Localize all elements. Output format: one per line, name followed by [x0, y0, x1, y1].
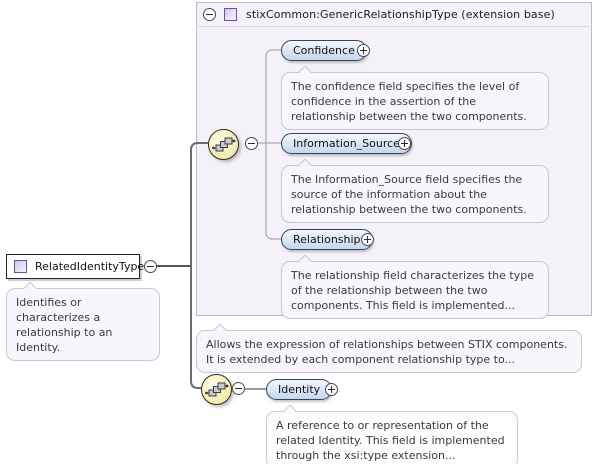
documentation-text: The Information_Source field specifies t…	[291, 172, 539, 217]
element-node-identity[interactable]: Identity	[266, 379, 332, 400]
expand-toggle-relationship[interactable]	[361, 233, 374, 246]
sequence-compositor-icon-top[interactable]	[208, 129, 239, 160]
extension-base-title: stixCommon:GenericRelationshipType (exte…	[246, 8, 555, 21]
extension-base-header: stixCommon:GenericRelationshipType (exte…	[196, 2, 592, 27]
callout-pointer	[298, 66, 314, 73]
element-label: Information_Source	[293, 137, 400, 150]
element-label: Confidence	[293, 44, 355, 57]
documentation-text: The relationship field characterizes the…	[291, 268, 539, 313]
documentation-callout-information-source: The Information_Source field specifies t…	[281, 165, 549, 223]
documentation-text: A reference to or representation of the …	[276, 418, 508, 463]
callout-pointer	[213, 324, 229, 331]
documentation-text: Identifies or characterizes a relationsh…	[16, 295, 150, 355]
element-label: Identity	[278, 383, 320, 396]
expand-toggle-confidence[interactable]	[357, 44, 370, 57]
collapse-toggle-sequence-bottom[interactable]	[232, 382, 245, 395]
callout-pointer	[298, 159, 314, 166]
element-node-relationship[interactable]: Relationship	[281, 229, 373, 250]
documentation-callout-relationship: The relationship field characterizes the…	[281, 261, 549, 319]
documentation-callout-confidence: The confidence field specifies the level…	[281, 72, 549, 130]
documentation-callout-identity: A reference to or representation of the …	[266, 411, 518, 464]
complex-type-icon	[224, 8, 237, 21]
callout-pointer	[23, 282, 39, 289]
sequence-compositor-icon-bottom[interactable]	[201, 374, 232, 405]
extension-base-collapse-toggle[interactable]	[203, 8, 216, 21]
element-label: Relationship	[293, 233, 361, 246]
element-node-information-source[interactable]: Information_Source	[281, 133, 412, 154]
documentation-text: Allows the expression of relationships b…	[206, 337, 572, 367]
schema-diagram-canvas: stixCommon:GenericRelationshipType (exte…	[0, 0, 606, 464]
collapse-toggle-sequence-top[interactable]	[245, 137, 258, 150]
expand-toggle-identity[interactable]	[325, 383, 338, 396]
callout-pointer	[283, 405, 299, 412]
type-box-related-identity-type[interactable]: RelatedIdentityType	[6, 254, 140, 279]
documentation-callout-base: Allows the expression of relationships b…	[196, 330, 582, 373]
complex-type-icon	[14, 260, 27, 273]
type-name-label: RelatedIdentityType	[35, 260, 144, 273]
documentation-callout-related-identity-type: Identifies or characterizes a relationsh…	[6, 288, 160, 361]
callout-pointer	[298, 255, 314, 262]
collapse-toggle-related-identity-type[interactable]	[144, 260, 157, 273]
element-node-confidence[interactable]: Confidence	[281, 40, 367, 61]
documentation-text: The confidence field specifies the level…	[291, 79, 539, 124]
expand-toggle-information-source[interactable]	[398, 137, 411, 150]
